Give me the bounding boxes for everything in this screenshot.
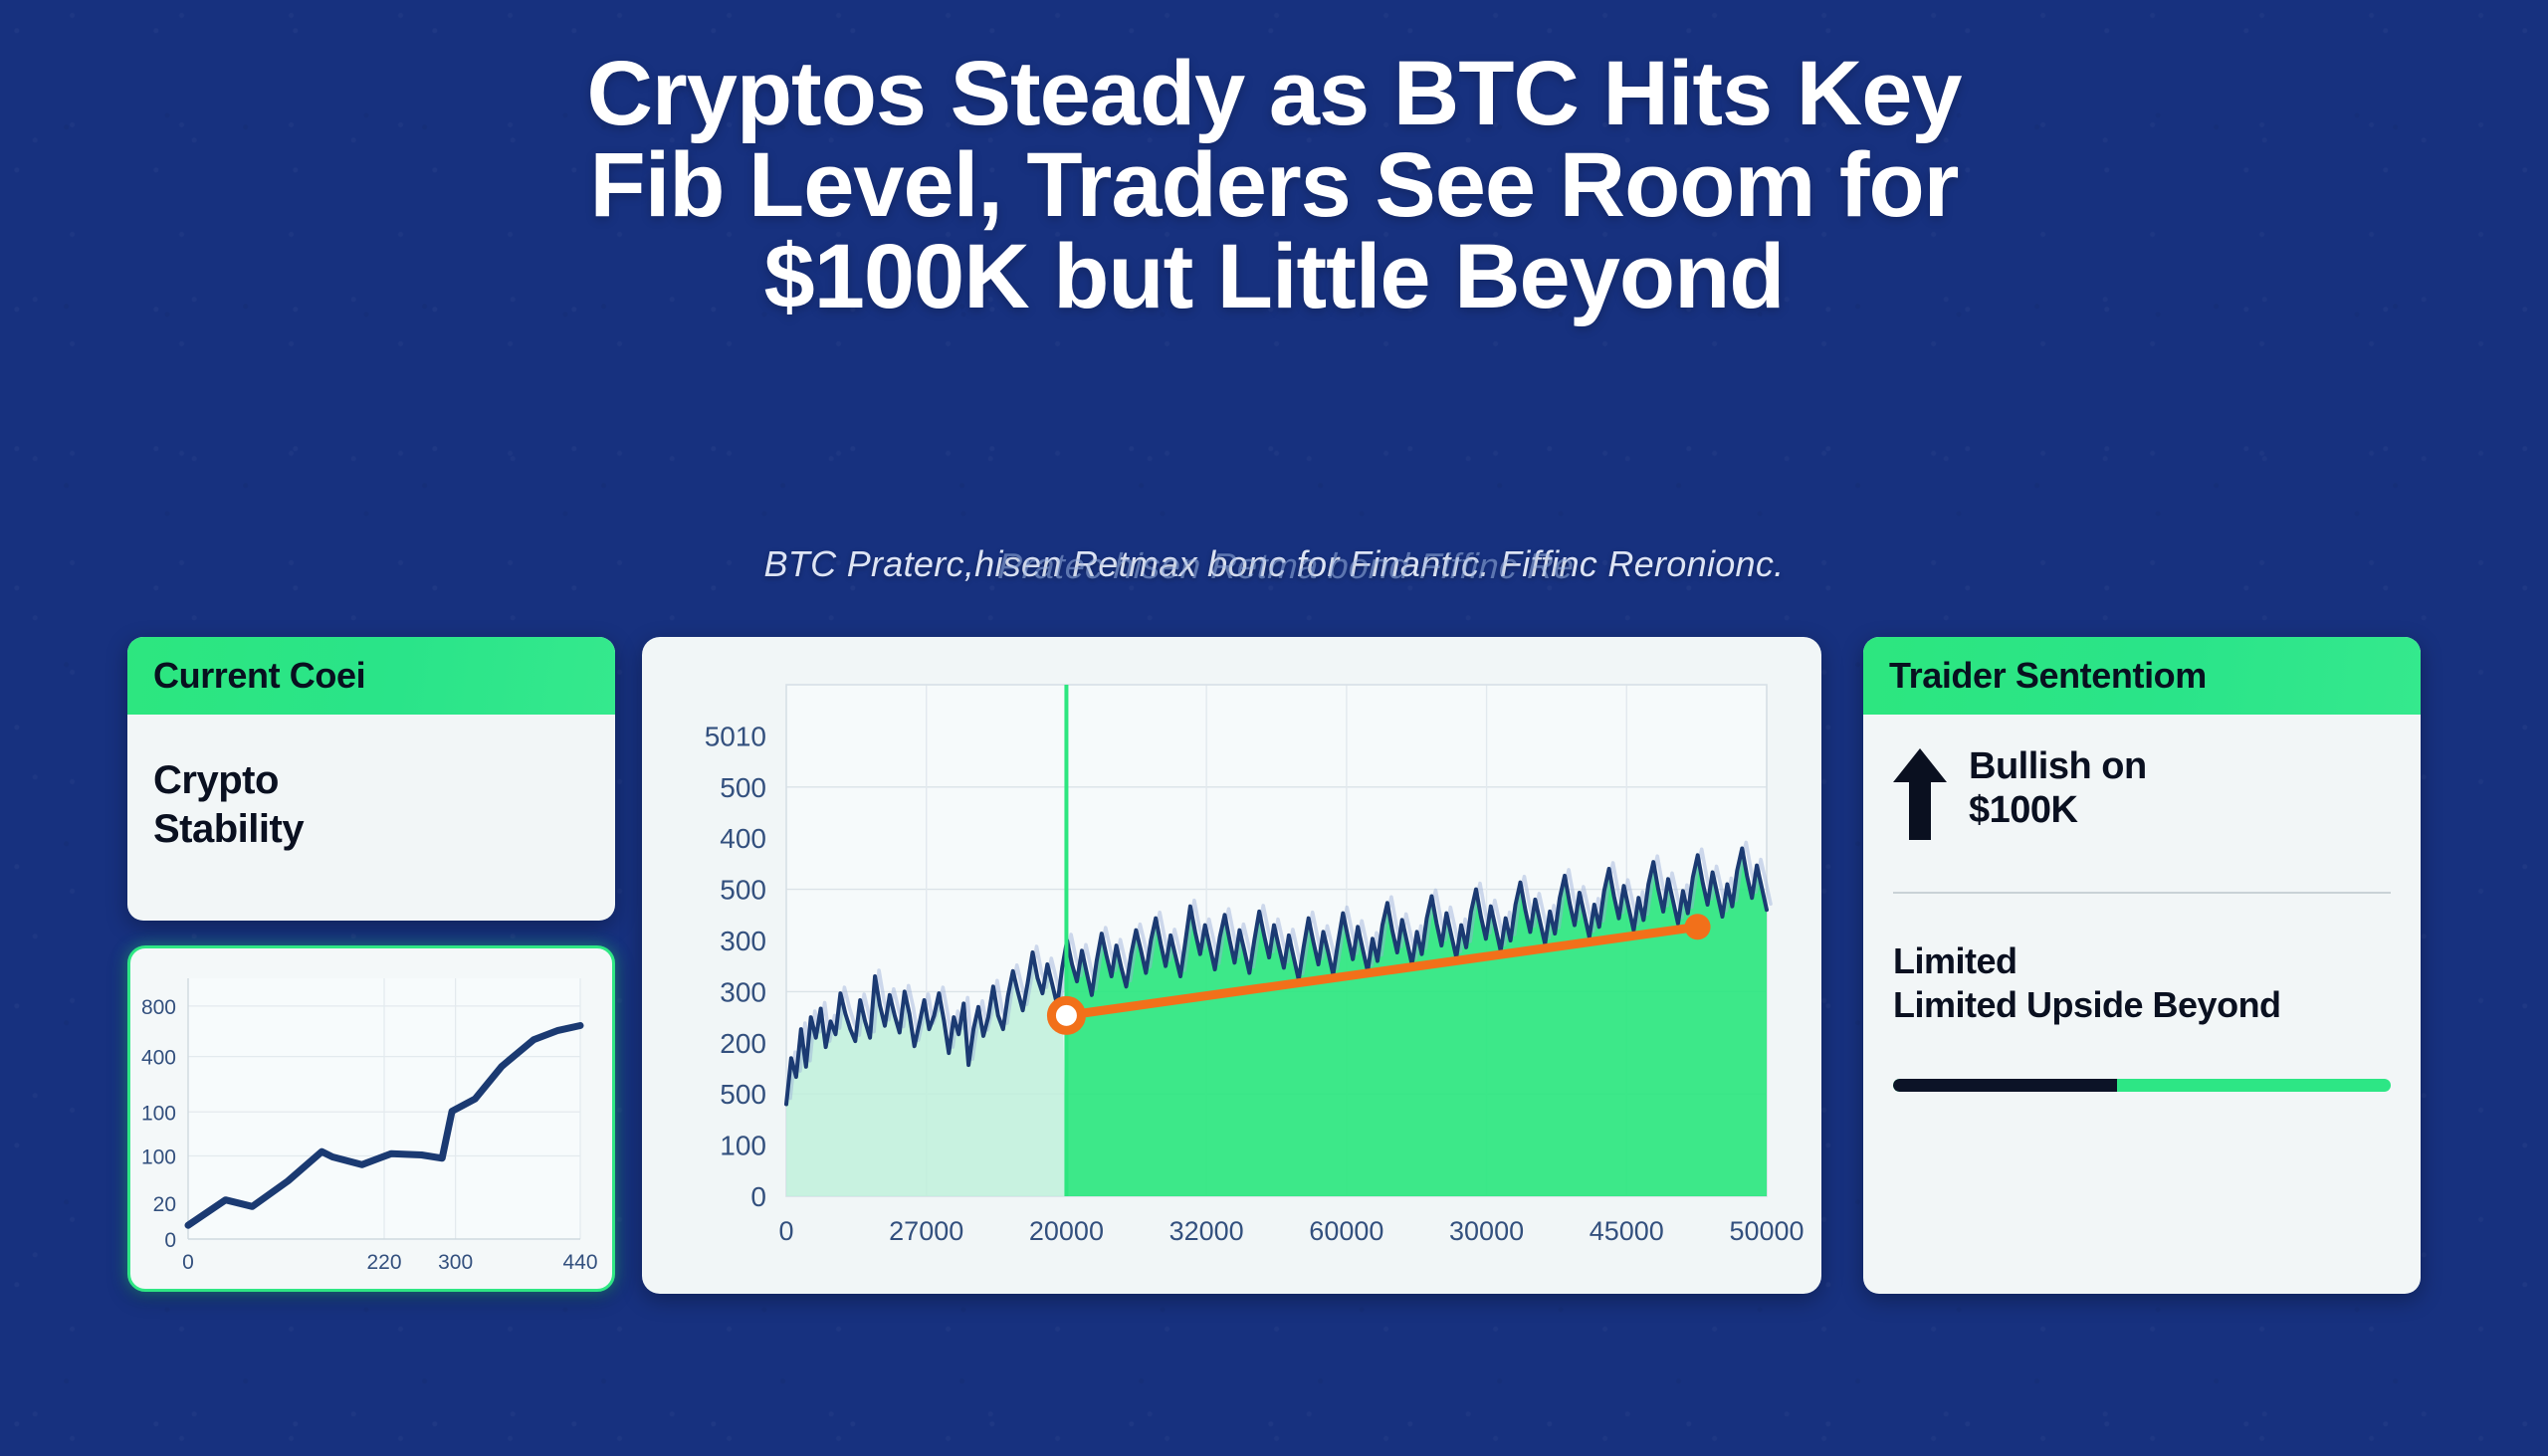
current-state-value-line-1: Crypto xyxy=(153,756,589,805)
mini-chart-plot: 0201001004008000220300440 xyxy=(130,948,612,1289)
svg-text:27000: 27000 xyxy=(889,1216,963,1246)
svg-text:500: 500 xyxy=(720,875,766,906)
sentiment-primary-line-2: $100K xyxy=(1969,788,2147,832)
trader-sentiment-card-header: Traider Sententiom xyxy=(1863,637,2421,715)
svg-text:100: 100 xyxy=(141,1102,176,1125)
svg-text:20: 20 xyxy=(153,1193,176,1216)
svg-text:100: 100 xyxy=(720,1131,766,1161)
current-state-value-line-2: Stability xyxy=(153,805,589,854)
svg-text:50000: 50000 xyxy=(1729,1216,1804,1246)
current-state-card: Current Coei Crypto Stability xyxy=(127,637,615,921)
svg-text:0: 0 xyxy=(182,1251,194,1274)
page-subtitle: Pratec hisen Retma bond Fiffinc Re BTC P… xyxy=(0,543,2548,585)
svg-text:45000: 45000 xyxy=(1590,1216,1664,1246)
page-title: Cryptos Steady as BTC Hits Key Fib Level… xyxy=(0,48,2548,322)
svg-text:20000: 20000 xyxy=(1029,1216,1104,1246)
svg-text:300: 300 xyxy=(720,926,766,956)
svg-text:800: 800 xyxy=(141,996,176,1019)
sentiment-divider xyxy=(1893,892,2391,894)
svg-text:400: 400 xyxy=(141,1047,176,1070)
svg-text:100: 100 xyxy=(141,1145,176,1168)
sentiment-primary-text: Bullish on $100K xyxy=(1969,744,2147,832)
svg-text:30000: 30000 xyxy=(1449,1216,1524,1246)
upside-progress-bar xyxy=(1893,1079,2391,1092)
mini-chart-card: 0201001004008000220300440 xyxy=(127,945,615,1292)
svg-text:300: 300 xyxy=(438,1251,473,1274)
svg-text:60000: 60000 xyxy=(1309,1216,1383,1246)
current-state-card-body: Crypto Stability xyxy=(127,715,615,882)
svg-text:220: 220 xyxy=(366,1251,401,1274)
trader-sentiment-card: Traider Sententiom Bullish on $100K Limi… xyxy=(1863,637,2421,1294)
page-title-line-2: Fib Level, Traders See Room for xyxy=(119,139,2429,231)
upside-progress-fill xyxy=(1893,1079,2117,1092)
svg-text:32000: 32000 xyxy=(1169,1216,1244,1246)
svg-text:500: 500 xyxy=(720,772,766,803)
page-title-line-1: Cryptos Steady as BTC Hits Key xyxy=(119,48,2429,139)
svg-text:5010: 5010 xyxy=(705,721,766,751)
sentiment-secondary-line-2: Limited Upside Beyond xyxy=(1893,983,2391,1027)
sentiment-primary-row: Bullish on $100K xyxy=(1893,744,2391,840)
sentiment-primary-line-1: Bullish on xyxy=(1969,744,2147,788)
sentiment-secondary-line-1: Limited xyxy=(1893,939,2391,983)
page-title-line-3: $100K but Little Beyond xyxy=(119,231,2429,322)
arrow-up-icon xyxy=(1893,748,1947,840)
svg-text:440: 440 xyxy=(562,1251,597,1274)
page-subtitle-text: BTC Praterc,hisen Retmax bonc for Finant… xyxy=(764,543,1785,584)
current-state-value: Crypto Stability xyxy=(153,756,589,854)
svg-text:0: 0 xyxy=(750,1181,766,1212)
current-state-card-header: Current Coei xyxy=(127,637,615,715)
sentiment-secondary-text: Limited Limited Upside Beyond xyxy=(1893,939,2391,1027)
svg-text:400: 400 xyxy=(720,823,766,854)
main-chart-card: 0100500200300300500400500501002700020000… xyxy=(642,637,1821,1294)
svg-text:200: 200 xyxy=(720,1028,766,1059)
svg-text:300: 300 xyxy=(720,976,766,1007)
svg-text:500: 500 xyxy=(720,1079,766,1110)
svg-text:0: 0 xyxy=(164,1229,176,1252)
main-chart-plot: 0100500200300300500400500501002700020000… xyxy=(642,637,1821,1294)
svg-text:0: 0 xyxy=(778,1216,793,1246)
trader-sentiment-card-body: Bullish on $100K Limited Limited Upside … xyxy=(1863,715,2421,1122)
